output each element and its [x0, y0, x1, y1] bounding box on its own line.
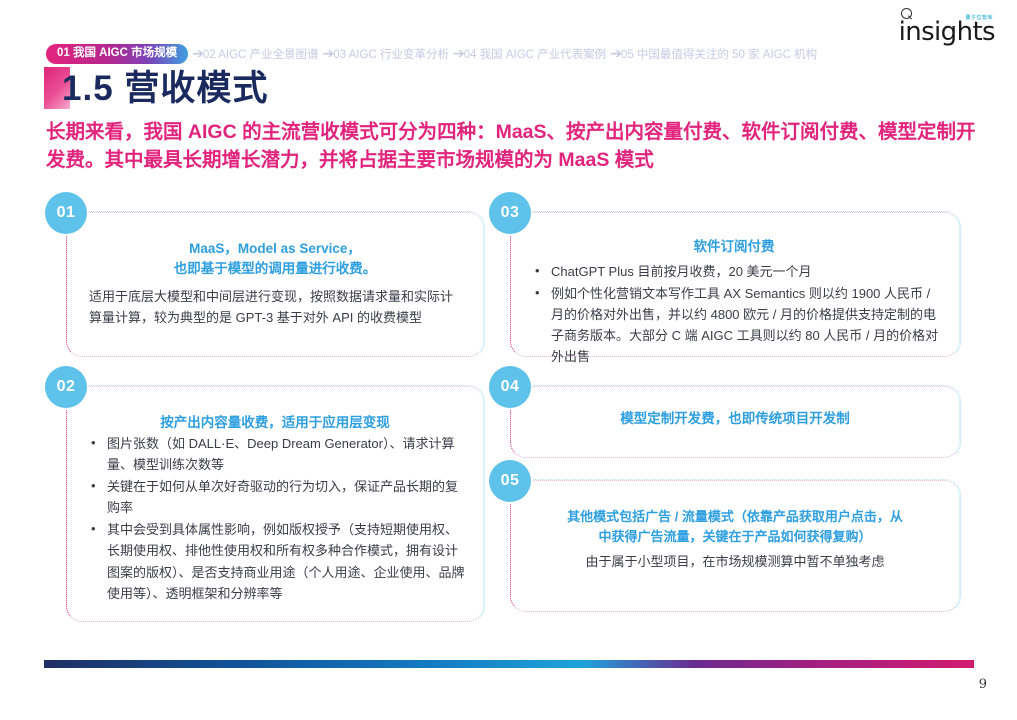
chevron-right-icon: ➔: [453, 45, 463, 62]
card-heading-line2: 中获得广告流量，关键在于产品如何获得复购）: [533, 527, 937, 547]
revenue-model-card-05: 05 其他模式包括广告 / 流量模式（依靠产品获取用户点击，从 中获得广告流量，…: [510, 480, 960, 612]
card-body-05: 由于属于小型项目，在市场规模测算中暂不单独考虑: [533, 551, 937, 572]
card-badge-02: 02: [45, 366, 87, 408]
list-item: 关键在于如何从单次好奇驱动的行为切入，保证产品长期的复购率: [85, 476, 465, 518]
revenue-model-card-02: 02 按产出内容量收费，适用于应用层变现 图片张数（如 DALL·E、Deep …: [66, 386, 484, 622]
page-subtitle: 长期来看，我国 AIGC 的主流营收模式可分为四种：MaaS、按产出内容量付费、…: [46, 118, 981, 175]
breadcrumb-item-active[interactable]: 01 我国 AIGC 市场规模: [46, 44, 188, 64]
list-item: 其中会受到具体属性影响，例如版权授予（支持短期使用权、长期使用权、排他性使用权和…: [85, 519, 465, 603]
card-heading-03: 软件订阅付费: [529, 237, 939, 257]
revenue-model-card-04: 04 模型定制开发费，也即传统项目开发制: [510, 386, 960, 458]
card-heading-01: MaaS，Model as Service， 也即基于模型的调用量进行收费。: [89, 239, 461, 280]
list-item: 例如个性化营销文本写作工具 AX Semantics 则以约 1900 人民币 …: [529, 283, 939, 367]
list-item: ChatGPT Plus 目前按月收费，20 美元一个月: [529, 261, 939, 282]
page-title-row: 1.5 营收模式: [44, 67, 268, 109]
breadcrumb-item-04[interactable]: 04 我国 AIGC 产业代表案例: [464, 46, 607, 62]
list-item: 图片张数（如 DALL·E、Deep Dream Generator）、请求计算…: [85, 433, 465, 475]
chevron-right-icon: ➔: [323, 45, 333, 62]
chevron-right-icon: ➔: [610, 45, 620, 62]
card-bullet-list-02: 图片张数（如 DALL·E、Deep Dream Generator）、请求计算…: [85, 433, 465, 603]
logo-wordmark-row: insights: [899, 19, 995, 45]
breadcrumb-item-02[interactable]: 02 AIGC 产业全景图谱: [203, 46, 319, 62]
revenue-model-card-03: 03 软件订阅付费 ChatGPT Plus 目前按月收费，20 美元一个月 例…: [510, 212, 960, 357]
card-body-01: 适用于底层大模型和中间层进行变现，按照数据请求量和实际计算量计算，较为典型的是 …: [89, 286, 461, 328]
card-heading-line1: MaaS，Model as Service，: [89, 239, 461, 259]
card-badge-04: 04: [489, 366, 531, 408]
card-badge-05: 05: [489, 460, 531, 502]
logo-wordmark: insights: [899, 17, 995, 47]
card-bullet-list-03: ChatGPT Plus 目前按月收费，20 美元一个月 例如个性化营销文本写作…: [529, 261, 939, 367]
revenue-model-card-01: 01 MaaS，Model as Service， 也即基于模型的调用量进行收费…: [66, 212, 484, 357]
page-title: 1.5 营收模式: [62, 71, 268, 106]
card-heading-04: 模型定制开发费，也即传统项目开发制: [531, 409, 939, 429]
card-heading-line1: 其他模式包括广告 / 流量模式（依靠产品获取用户点击，从: [533, 507, 937, 527]
breadcrumb-item-03[interactable]: 03 AIGC 行业变革分析: [333, 46, 449, 62]
brand-logo: 量子位智库 insights: [899, 14, 995, 45]
card-badge-01: 01: [45, 192, 87, 234]
search-icon: [901, 8, 912, 19]
footer-gradient-bar: [44, 660, 974, 668]
card-heading-02: 按产出内容量收费，适用于应用层变现: [85, 413, 465, 433]
breadcrumb-item-05[interactable]: 05 中国最值得关注的 50 家 AIGC 机构: [621, 46, 817, 62]
page-number: 9: [979, 677, 987, 692]
card-badge-03: 03: [489, 192, 531, 234]
breadcrumb: 01 我国 AIGC 市场规模 ➔ 02 AIGC 产业全景图谱 ➔ 03 AI…: [46, 44, 817, 64]
card-heading-line2: 也即基于模型的调用量进行收费。: [89, 259, 461, 279]
card-heading-05: 其他模式包括广告 / 流量模式（依靠产品获取用户点击，从 中获得广告流量，关键在…: [533, 507, 937, 546]
chevron-right-icon: ➔: [192, 45, 202, 62]
